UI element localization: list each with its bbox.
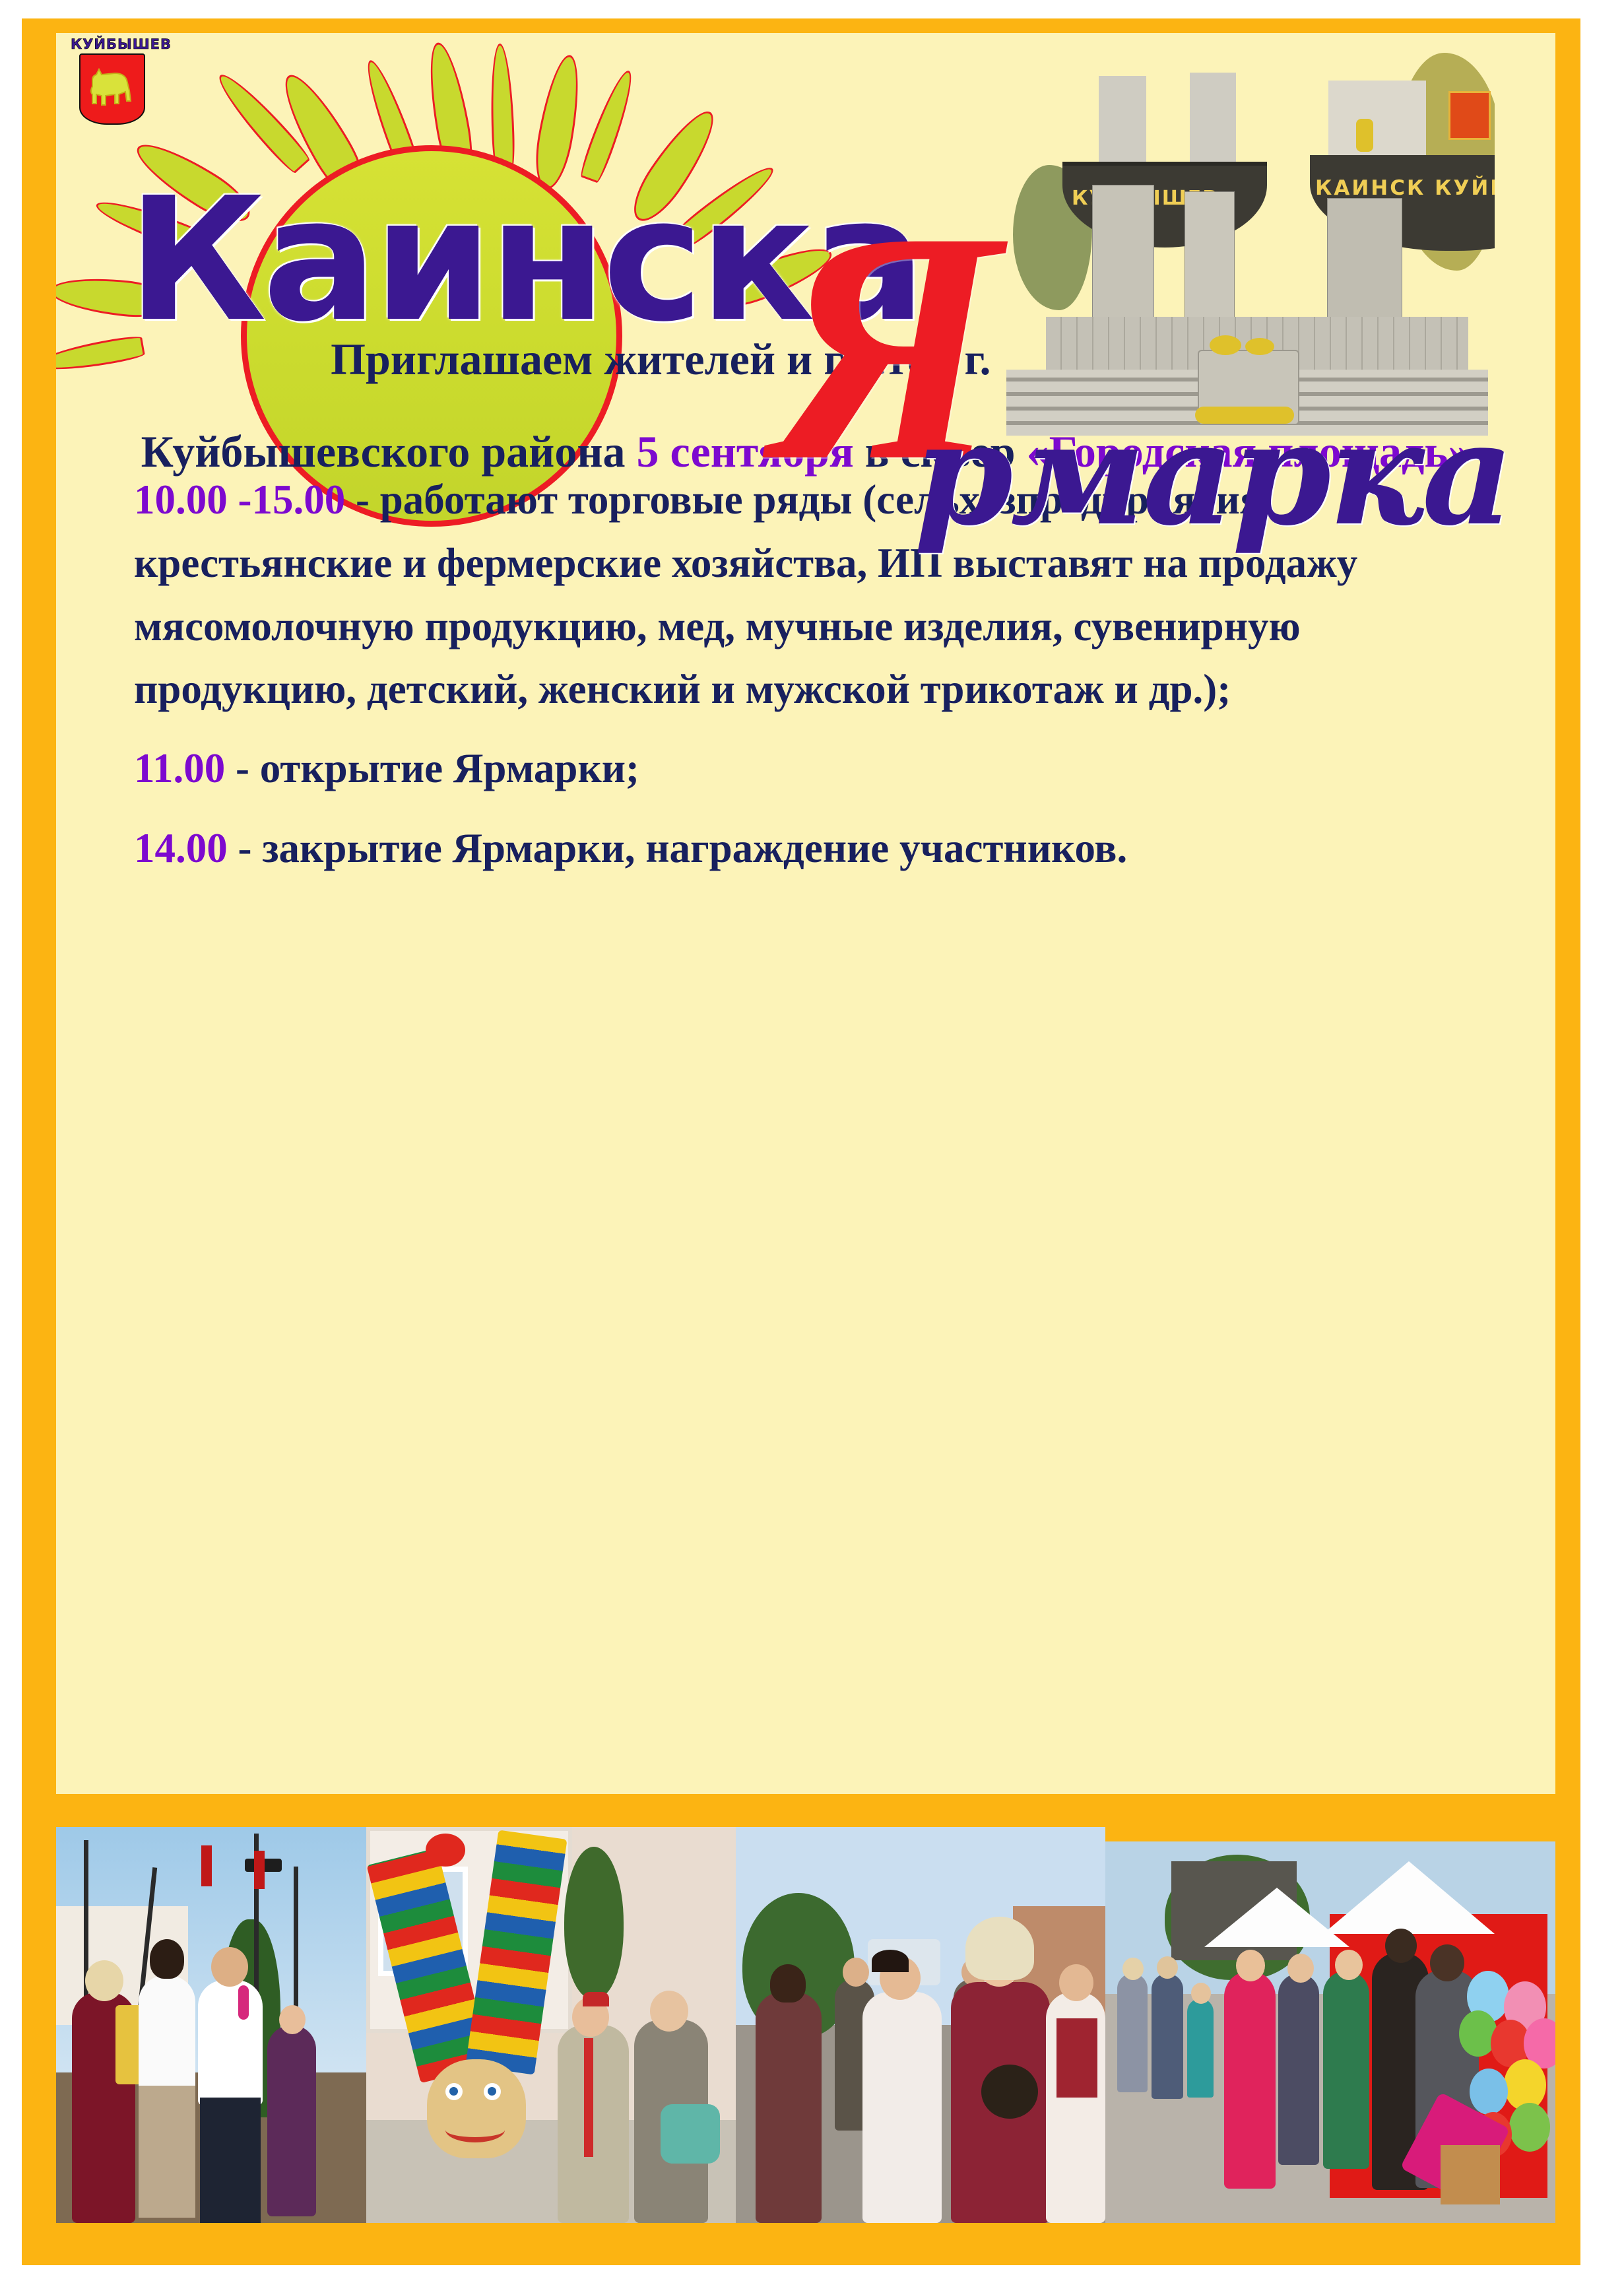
schedule-time: 14.00: [134, 825, 228, 871]
head: [1385, 1929, 1417, 1963]
fan: [981, 2065, 1038, 2119]
flower-shape: [1245, 338, 1274, 355]
shield-icon: [79, 53, 145, 125]
photo-folk-costumes: [366, 1827, 736, 2223]
headdress: [583, 1992, 609, 2006]
person: [756, 1992, 822, 2223]
hair: [965, 1917, 1034, 1980]
head: [1157, 1956, 1178, 1979]
person: [1323, 1971, 1369, 2169]
schedule-dash: -: [225, 745, 259, 791]
puppet-mouth: [445, 2117, 505, 2142]
head: [279, 2005, 306, 2034]
head: [650, 1991, 688, 2032]
orange-divider-band: [56, 1794, 1555, 1827]
schedule-text: открытие Ярмарки;: [260, 745, 639, 791]
puppet-pupil: [449, 2087, 458, 2096]
monument-block: [1327, 198, 1402, 331]
head: [843, 1958, 869, 1987]
balloon: [1470, 2069, 1508, 2115]
coat-of-arms-label: КУЙБЫШЕВ: [71, 36, 151, 52]
title-part-rmarka: рмарка: [914, 403, 1511, 545]
poster-content-panel: КУЙБЫШЕВ Каинска Я рмарка: [56, 33, 1555, 1794]
kite-top: [426, 1834, 465, 1867]
schedule-row: 11.00 - открытие Ярмарки;: [134, 748, 1487, 789]
monument-label-right: КАИНСК КУЙБЫ: [1315, 176, 1495, 200]
monument-crest-icon: [1448, 91, 1491, 140]
person: [1117, 1973, 1148, 2092]
head: [1335, 1950, 1363, 1980]
schedule-row: 14.00 - закрытие Ярмарки, награждение уч…: [134, 828, 1487, 869]
schedule-dash: -: [228, 825, 262, 871]
head: [1122, 1958, 1144, 1980]
head: [85, 1960, 123, 2001]
bodice: [1056, 2018, 1097, 2098]
schedule-text: закрытие Ярмарки, награждение участников…: [262, 825, 1127, 871]
hair: [872, 1950, 909, 1972]
person: [862, 1992, 942, 2223]
poster-orange-frame: КУЙБЫШЕВ Каинска Я рмарка: [22, 18, 1580, 2265]
head: [211, 1947, 248, 1987]
tree: [564, 1847, 624, 1999]
person: [558, 2025, 629, 2223]
scarf: [661, 2104, 720, 2164]
balloon: [1509, 2103, 1550, 2152]
puppet-head: [427, 2059, 526, 2158]
monument-photo: КУЙБЫШЕВ КАИНСК КУЙБЫ: [1000, 40, 1495, 436]
schedule-time: 10.00 -15.00: [134, 477, 345, 523]
flower-shape: [1210, 335, 1241, 355]
person: [139, 1975, 195, 2094]
head: [770, 1964, 806, 2003]
bull-icon: [84, 60, 140, 113]
photo-stage-opening: [56, 1827, 366, 2223]
coat-of-arms: КУЙБЫШЕВ: [71, 36, 151, 129]
person: [198, 1980, 263, 2105]
flag: [201, 1845, 212, 1886]
head: [1059, 1964, 1093, 2001]
poster-header: КУЙБЫШЕВ Каинска Я рмарка: [56, 33, 1555, 323]
flag: [254, 1851, 265, 1889]
photo-procession: [736, 1827, 1105, 2223]
flower-shape: [1356, 119, 1373, 152]
monument-block: [1092, 185, 1154, 325]
head: [150, 1939, 184, 1979]
schedule-time: 11.00: [134, 745, 225, 791]
crate: [1441, 2145, 1500, 2204]
head: [1287, 1954, 1314, 1983]
head: [1191, 1983, 1211, 2004]
trousers: [200, 2098, 261, 2223]
photo-market-stalls: [1105, 1841, 1555, 2223]
monument-block: [1185, 191, 1235, 328]
head: [1236, 1950, 1265, 1981]
tent-roof: [1323, 1861, 1495, 1934]
head: [1430, 1944, 1464, 1981]
skirt: [139, 2086, 195, 2218]
photo-strip: [56, 1827, 1555, 2249]
microphone-icon: [238, 1985, 249, 2020]
person: [1187, 1999, 1214, 2098]
person: [1152, 1973, 1183, 2099]
person: [1278, 1973, 1319, 2165]
schedule-dash: -: [345, 477, 379, 523]
puppet-pupil: [488, 2087, 496, 2096]
sun-ray-icon: [489, 44, 511, 167]
person: [267, 2025, 316, 2216]
person: [1224, 1971, 1276, 2189]
ribbon: [584, 2038, 593, 2157]
